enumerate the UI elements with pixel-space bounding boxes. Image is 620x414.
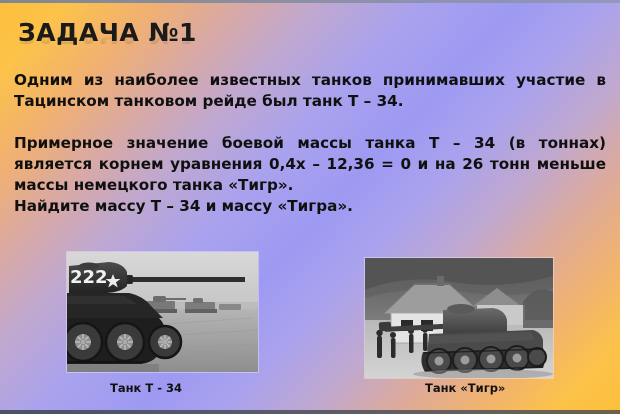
tiger-tank-illustration bbox=[365, 258, 553, 378]
image-tiger-tank bbox=[365, 258, 553, 378]
presentation-slide: ЗАДАЧА №1 ЗАДАЧА №1 Одним из наиболее из… bbox=[0, 0, 620, 414]
svg-text:222: 222 bbox=[70, 267, 108, 288]
image-t34-tank: 222 bbox=[67, 252, 258, 372]
paragraph-question: Найдите массу Т – 34 и массу «Тигра». bbox=[14, 196, 606, 217]
paragraph-problem: Примерное значение боевой массы танка Т … bbox=[14, 133, 606, 196]
t34-tank-illustration: 222 bbox=[67, 252, 258, 372]
slide-top-border bbox=[0, 0, 620, 3]
slide-title-block: ЗАДАЧА №1 ЗАДАЧА №1 bbox=[18, 20, 318, 66]
caption-tiger: Танк «Тигр» bbox=[425, 381, 505, 395]
paragraph-intro: Одним из наиболее известных танков прини… bbox=[14, 70, 606, 112]
page-title: ЗАДАЧА №1 bbox=[18, 20, 318, 45]
slide-bottom-border bbox=[0, 410, 620, 414]
slide-body: Одним из наиболее известных танков прини… bbox=[14, 70, 606, 217]
caption-t34: Танк Т - 34 bbox=[110, 381, 182, 395]
